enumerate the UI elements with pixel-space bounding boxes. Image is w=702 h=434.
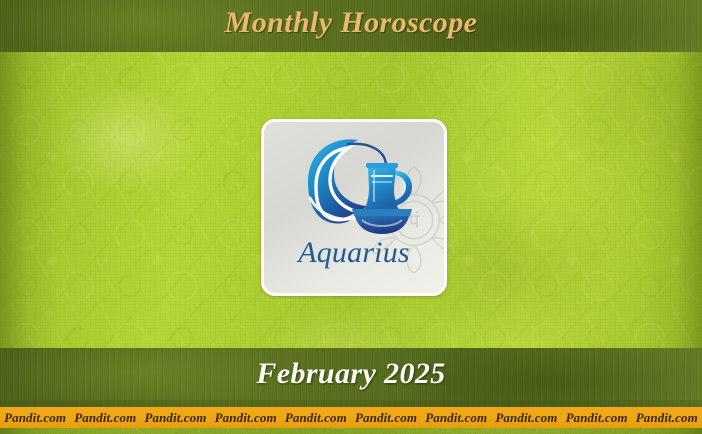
- strip-shadow-top: [0, 400, 702, 407]
- footer-banner: February 2025: [0, 348, 702, 407]
- strip-shadow-bottom: [0, 428, 702, 434]
- zodiac-sign-card: पं: [261, 119, 447, 296]
- watermark-text: Pandit.com: [636, 410, 698, 426]
- horoscope-date: February 2025: [0, 357, 702, 391]
- watermark-text: Pandit.com: [355, 410, 417, 426]
- watermark-strip: Pandit.comPandit.comPandit.comPandit.com…: [0, 407, 702, 428]
- watermark-text: Pandit.com: [144, 410, 206, 426]
- page-title: Monthly Horoscope: [0, 6, 702, 40]
- watermark-text: Pandit.com: [215, 410, 277, 426]
- watermark-text: Pandit.com: [4, 410, 66, 426]
- watermark-text: Pandit.com: [495, 410, 557, 426]
- horoscope-poster: Monthly Horoscope पं: [0, 0, 702, 434]
- zodiac-sign-name: Aquarius: [264, 236, 444, 270]
- watermark-text: Pandit.com: [425, 410, 487, 426]
- watermark-text: Pandit.com: [566, 410, 628, 426]
- aquarius-water-bearer-icon: [286, 130, 422, 240]
- watermark-text: Pandit.com: [285, 410, 347, 426]
- watermark-text: Pandit.com: [74, 410, 136, 426]
- header-banner: Monthly Horoscope: [0, 0, 702, 52]
- aquarius-logo: [286, 130, 422, 240]
